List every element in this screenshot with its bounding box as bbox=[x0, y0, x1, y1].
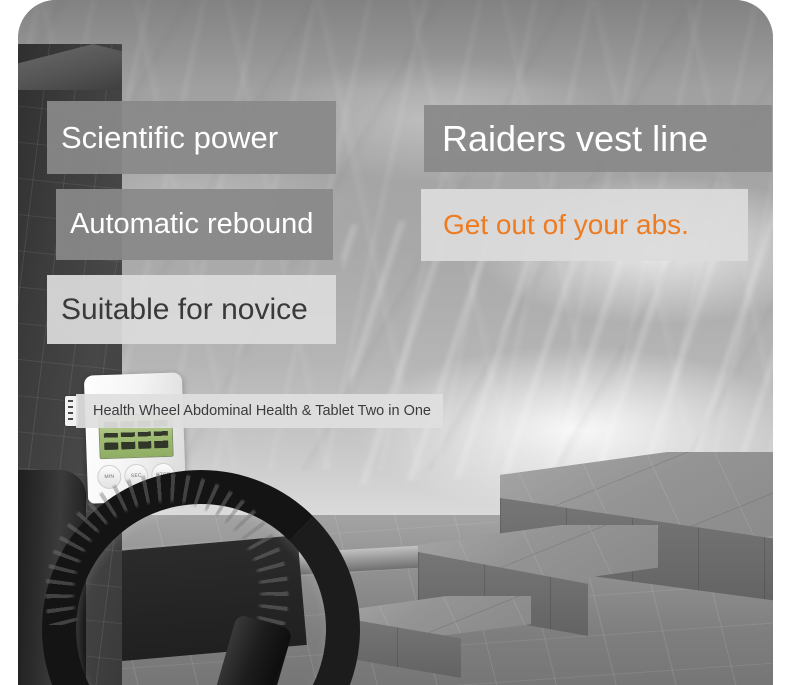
headline-title: Raiders vest line bbox=[442, 118, 708, 160]
right-white-gutter bbox=[773, 0, 790, 685]
product-banner: MIN SEC STOP Scientific power Automatic … bbox=[0, 0, 790, 685]
headline-subtitle: Get out of your abs. bbox=[443, 209, 689, 241]
feature-label: Suitable for novice bbox=[61, 293, 308, 327]
headline-box-subtitle: Get out of your abs. bbox=[421, 189, 748, 261]
feature-box-scientific-power: Scientific power bbox=[47, 101, 336, 174]
feature-box-suitable-for-novice: Suitable for novice bbox=[47, 275, 336, 344]
product-name-strip: Health Wheel Abdominal Health & Tablet T… bbox=[65, 394, 480, 428]
ceiling-shadow bbox=[18, 0, 773, 90]
feature-box-automatic-rebound: Automatic rebound bbox=[56, 189, 333, 260]
feature-label: Automatic rebound bbox=[70, 208, 313, 241]
headline-box-title: Raiders vest line bbox=[424, 105, 772, 172]
banner-photo: MIN SEC STOP Scientific power Automatic … bbox=[18, 0, 773, 685]
product-name-label: Health Wheel Abdominal Health & Tablet T… bbox=[76, 394, 443, 428]
left-white-gutter bbox=[0, 0, 18, 685]
feature-label: Scientific power bbox=[61, 120, 278, 156]
ab-roller-wheel bbox=[42, 470, 332, 685]
